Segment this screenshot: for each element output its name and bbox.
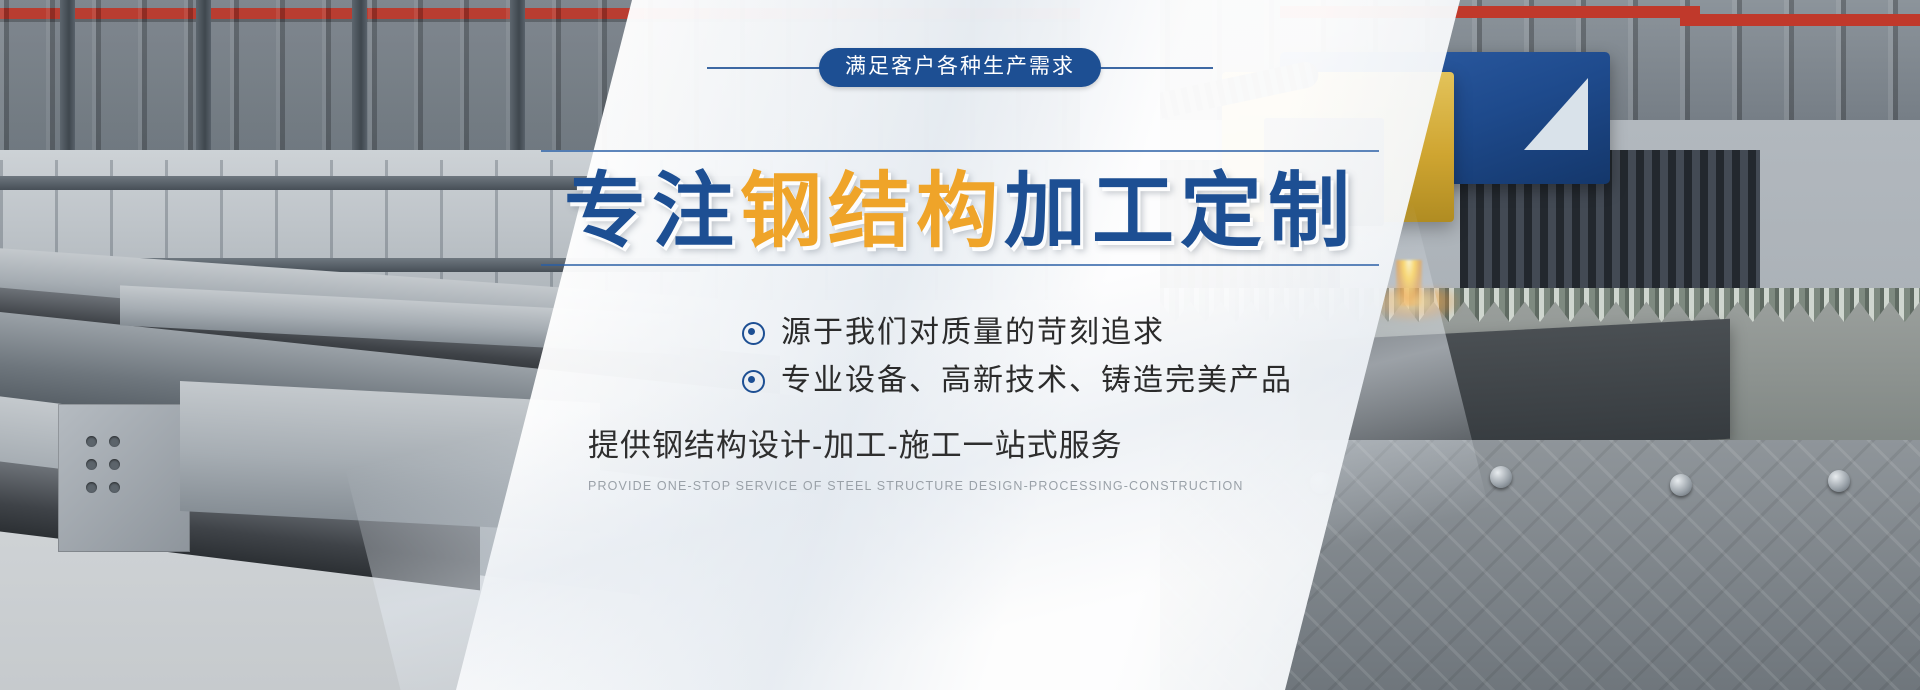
feature-bullet-list: 源于我们对质量的苛刻追求 专业设备、高新技术、铸造完美产品 bbox=[0, 318, 1920, 414]
headline-rule-bottom bbox=[541, 264, 1379, 266]
ring-bullet-icon bbox=[742, 370, 765, 393]
tagline-english: PROVIDE ONE-STOP SERVICE OF STEEL STRUCT… bbox=[588, 479, 1920, 493]
bullet-label: 源于我们对质量的苛刻追求 bbox=[781, 318, 1165, 348]
badge-row: 满足客户各种生产需求 bbox=[0, 48, 1920, 87]
bullet-label: 专业设备、高新技术、铸造完美产品 bbox=[781, 366, 1293, 396]
banner-content: 满足客户各种生产需求 专注钢结构加工定制 源于我们对质量的苛刻追求 专业设备、高… bbox=[0, 0, 1920, 690]
headline-part-1: 专注 bbox=[564, 166, 740, 257]
badge-rule-right bbox=[1095, 67, 1213, 69]
tagline-block: 提供钢结构设计-加工-施工一站式服务 PROVIDE ONE-STOP SERV… bbox=[0, 420, 1920, 493]
list-item: 专业设备、高新技术、铸造完美产品 bbox=[742, 366, 1293, 396]
badge-rule-left bbox=[707, 67, 825, 69]
headline-block: 专注钢结构加工定制 bbox=[0, 150, 1920, 266]
page-title: 专注钢结构加工定制 bbox=[0, 166, 1920, 258]
hero-banner: 满足客户各种生产需求 专注钢结构加工定制 源于我们对质量的苛刻追求 专业设备、高… bbox=[0, 0, 1920, 690]
status-badge: 满足客户各种生产需求 bbox=[819, 48, 1101, 87]
list-item: 源于我们对质量的苛刻追求 bbox=[742, 318, 1165, 348]
headline-rule-top bbox=[541, 150, 1379, 152]
headline-part-2: 钢结构 bbox=[740, 166, 1004, 257]
tagline-chinese: 提供钢结构设计-加工-施工一站式服务 bbox=[588, 420, 1920, 465]
headline-part-3: 加工定制 bbox=[1004, 166, 1356, 257]
ring-bullet-icon bbox=[742, 322, 765, 345]
